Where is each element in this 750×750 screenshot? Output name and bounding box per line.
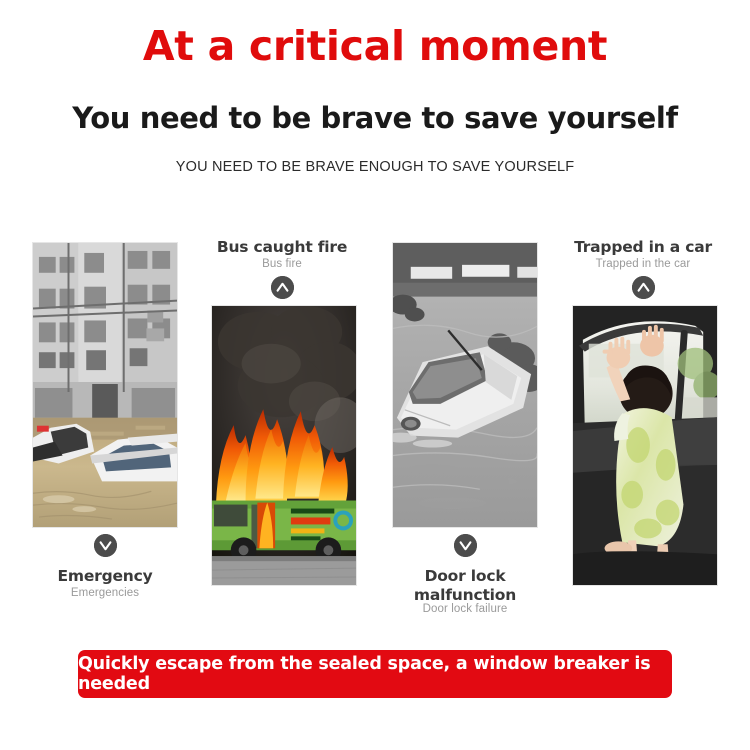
panel-grid: Emergency Emergencies Bus caught fire Bu…	[0, 0, 750, 750]
caption-bus-fire: Bus caught fire Bus fire	[187, 238, 377, 304]
photo-bus-fire-art	[212, 306, 356, 585]
photo-door-lock-art	[393, 243, 537, 527]
caption-bus-fire-title: Bus caught fire	[187, 238, 377, 257]
caption-trapped-car-title: Trapped in a car	[548, 238, 738, 257]
caption-door-lock-title: Door lock malfunction	[370, 567, 560, 605]
bottom-banner: Quickly escape from the sealed space, a …	[78, 650, 672, 698]
caption-flood-title: Emergency	[10, 567, 200, 586]
photo-bus-fire	[211, 305, 357, 586]
chevron-down-circle-icon	[94, 534, 117, 557]
caption-flood: Emergency Emergencies	[10, 534, 200, 600]
chevron-up-circle-icon	[271, 276, 294, 299]
bottom-banner-text: Quickly escape from the sealed space, a …	[78, 654, 672, 694]
caption-flood-sub: Emergencies	[10, 586, 200, 600]
chevron-down-circle-icon	[454, 534, 477, 557]
photo-trapped-car	[572, 305, 718, 586]
photo-flood-art	[33, 243, 177, 527]
caption-trapped-car: Trapped in a car Trapped in the car	[548, 238, 738, 304]
photo-trapped-car-art	[573, 306, 717, 585]
photo-door-lock	[392, 242, 538, 528]
caption-bus-fire-sub: Bus fire	[187, 257, 377, 271]
caption-trapped-car-sub: Trapped in the car	[548, 257, 738, 271]
caption-door-lock: Door lock malfunction Door lock failure	[370, 534, 560, 616]
chevron-up-circle-icon	[632, 276, 655, 299]
caption-door-lock-sub: Door lock failure	[370, 602, 560, 616]
photo-flood	[32, 242, 178, 528]
poster-root: At a critical moment You need to be brav…	[0, 0, 750, 750]
